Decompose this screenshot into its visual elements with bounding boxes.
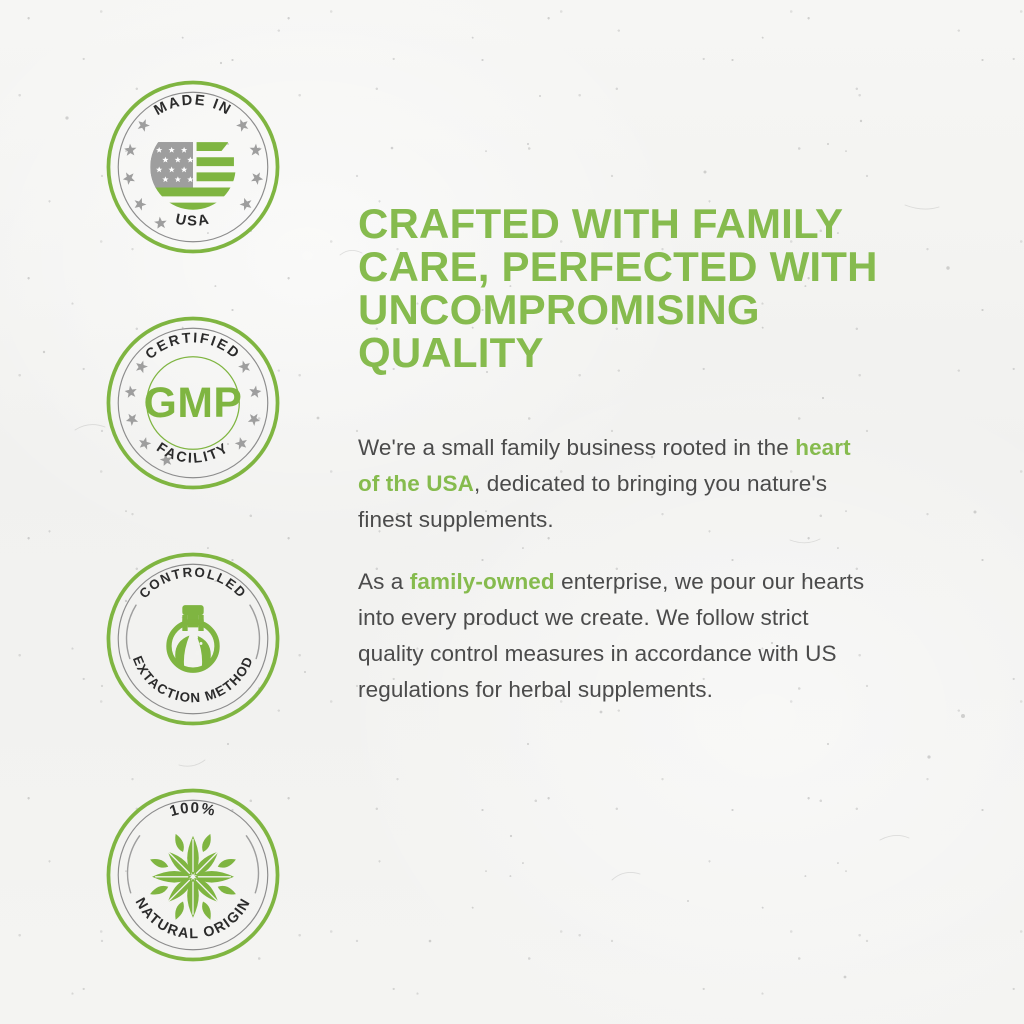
badge-bottom-label: USA [174,211,212,229]
paragraph-one: We're a small family business rooted in … [358,430,878,538]
paragraph-two-highlight: family-owned [410,569,555,594]
badge-bottom-label: EXTACTION METHOD [130,654,256,706]
badge-top-label: MADE IN [152,92,235,119]
paragraph-two-part-1: As a [358,569,410,594]
body-copy: We're a small family business rooted in … [358,430,878,708]
page-root: MADE IN USA [0,0,1024,1024]
badge-top-label: 100% [168,800,218,821]
content-column: CRAFTED WITH FAMILY CARE, PERFECTED WITH… [358,202,918,708]
badge-top-label: CERTIFIED [143,330,244,363]
page-headline: CRAFTED WITH FAMILY CARE, PERFECTED WITH… [358,202,918,374]
badge-controlled-extraction-method[interactable]: CONTROLLED EXTACTION METHOD [104,550,282,728]
badge-top-label: CONTROLLED [136,564,250,601]
flask-leaf-icon [169,605,217,673]
badge-natural-origin[interactable]: 100% NATURAL ORIGIN [104,786,282,964]
usa-flag-icon [150,142,235,222]
paragraph-two: As a family-owned enterprise, we pour ou… [358,564,878,708]
trust-badge-column: MADE IN USA [104,78,282,964]
badge-made-in-usa[interactable]: MADE IN USA [104,78,282,256]
leaf-rosette-icon [149,833,237,921]
paragraph-one-part-1: We're a small family business rooted in … [358,435,795,460]
gmp-text-icon: GMP [144,379,243,427]
badge-gmp-certified-facility[interactable]: GMP CERTIFIED FACILITY [104,314,282,492]
